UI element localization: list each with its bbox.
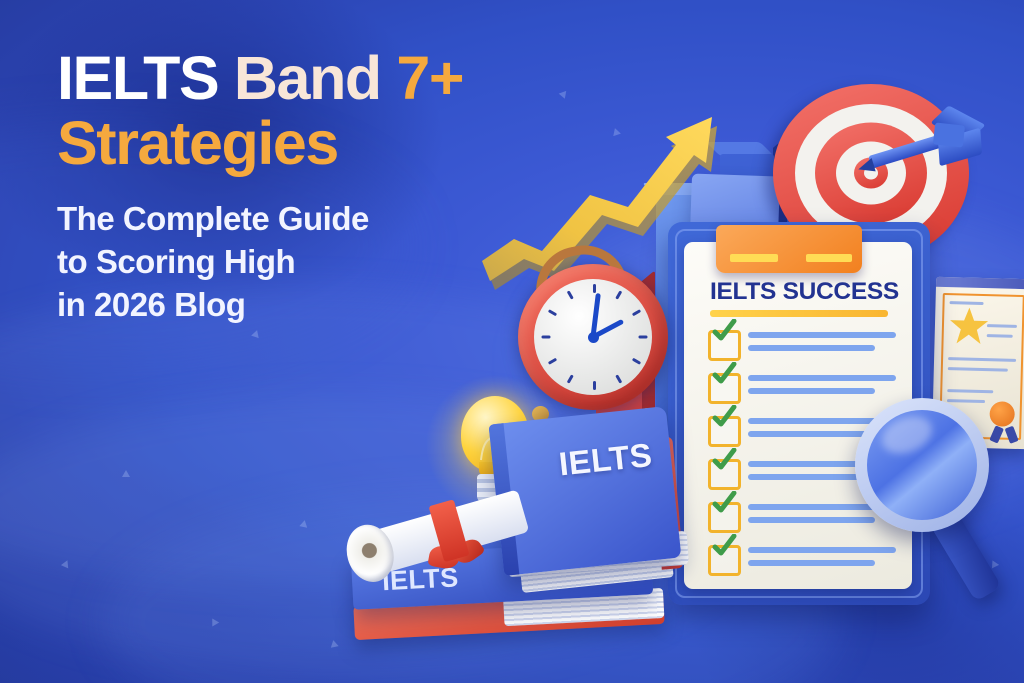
dart-fin — [933, 122, 965, 147]
poster-canvas: IELTS Band 7+ Strategies The Complete Gu… — [0, 0, 1024, 683]
clock-tick — [542, 336, 551, 339]
headline-block: IELTS Band 7+ Strategies The Complete Gu… — [57, 47, 527, 327]
title-word-band-score: 7+ — [396, 44, 463, 112]
clock-tick — [548, 309, 557, 316]
subtitle-line-2: to Scoring High — [57, 241, 527, 284]
checklist-text-lines — [748, 332, 896, 358]
subtitle-line-3: in 2026 Blog — [57, 284, 527, 327]
clipboard-clip-highlight — [730, 254, 778, 262]
text-line — [748, 375, 896, 381]
clipboard-clip-highlight — [806, 254, 852, 262]
clock-tick — [567, 290, 574, 299]
check-icon — [711, 405, 737, 429]
clock-center-pin — [588, 332, 599, 343]
title-line-strategies: Strategies — [57, 111, 527, 176]
clipboard-title-underline — [710, 310, 888, 317]
title-word-ielts: IELTS — [57, 44, 218, 112]
text-line — [748, 332, 896, 338]
check-icon — [711, 448, 737, 472]
clipboard-clip — [716, 225, 862, 273]
clock-tick — [639, 336, 648, 339]
clipboard-title: IELTS SUCCESS — [710, 278, 890, 306]
clock-tick — [615, 374, 622, 383]
sparkle-particle — [299, 519, 308, 528]
star-icon — [948, 305, 989, 346]
clock-face — [534, 279, 652, 395]
clock-tick — [632, 309, 641, 316]
certificate-text-line — [987, 334, 1013, 338]
check-icon — [711, 362, 737, 386]
subtitle: The Complete Guide to Scoring High in 20… — [57, 198, 527, 327]
sparkle-particle — [122, 470, 130, 477]
clock-tick — [567, 374, 574, 383]
clock-tick — [593, 381, 596, 390]
check-icon — [711, 491, 737, 515]
clock-tick — [548, 358, 557, 365]
check-icon — [711, 319, 737, 343]
book-title: IELTS — [557, 436, 654, 484]
check-icon — [711, 534, 737, 558]
title-word-band: Band — [234, 44, 381, 112]
clock-tick — [615, 290, 622, 299]
clock-tick — [632, 358, 641, 365]
text-line — [748, 345, 875, 351]
page-title: IELTS Band 7+ — [57, 47, 527, 109]
subtitle-line-1: The Complete Guide — [57, 198, 527, 241]
text-line — [748, 388, 875, 394]
magnifier-icon — [855, 398, 1024, 618]
clock-tick — [593, 284, 596, 293]
